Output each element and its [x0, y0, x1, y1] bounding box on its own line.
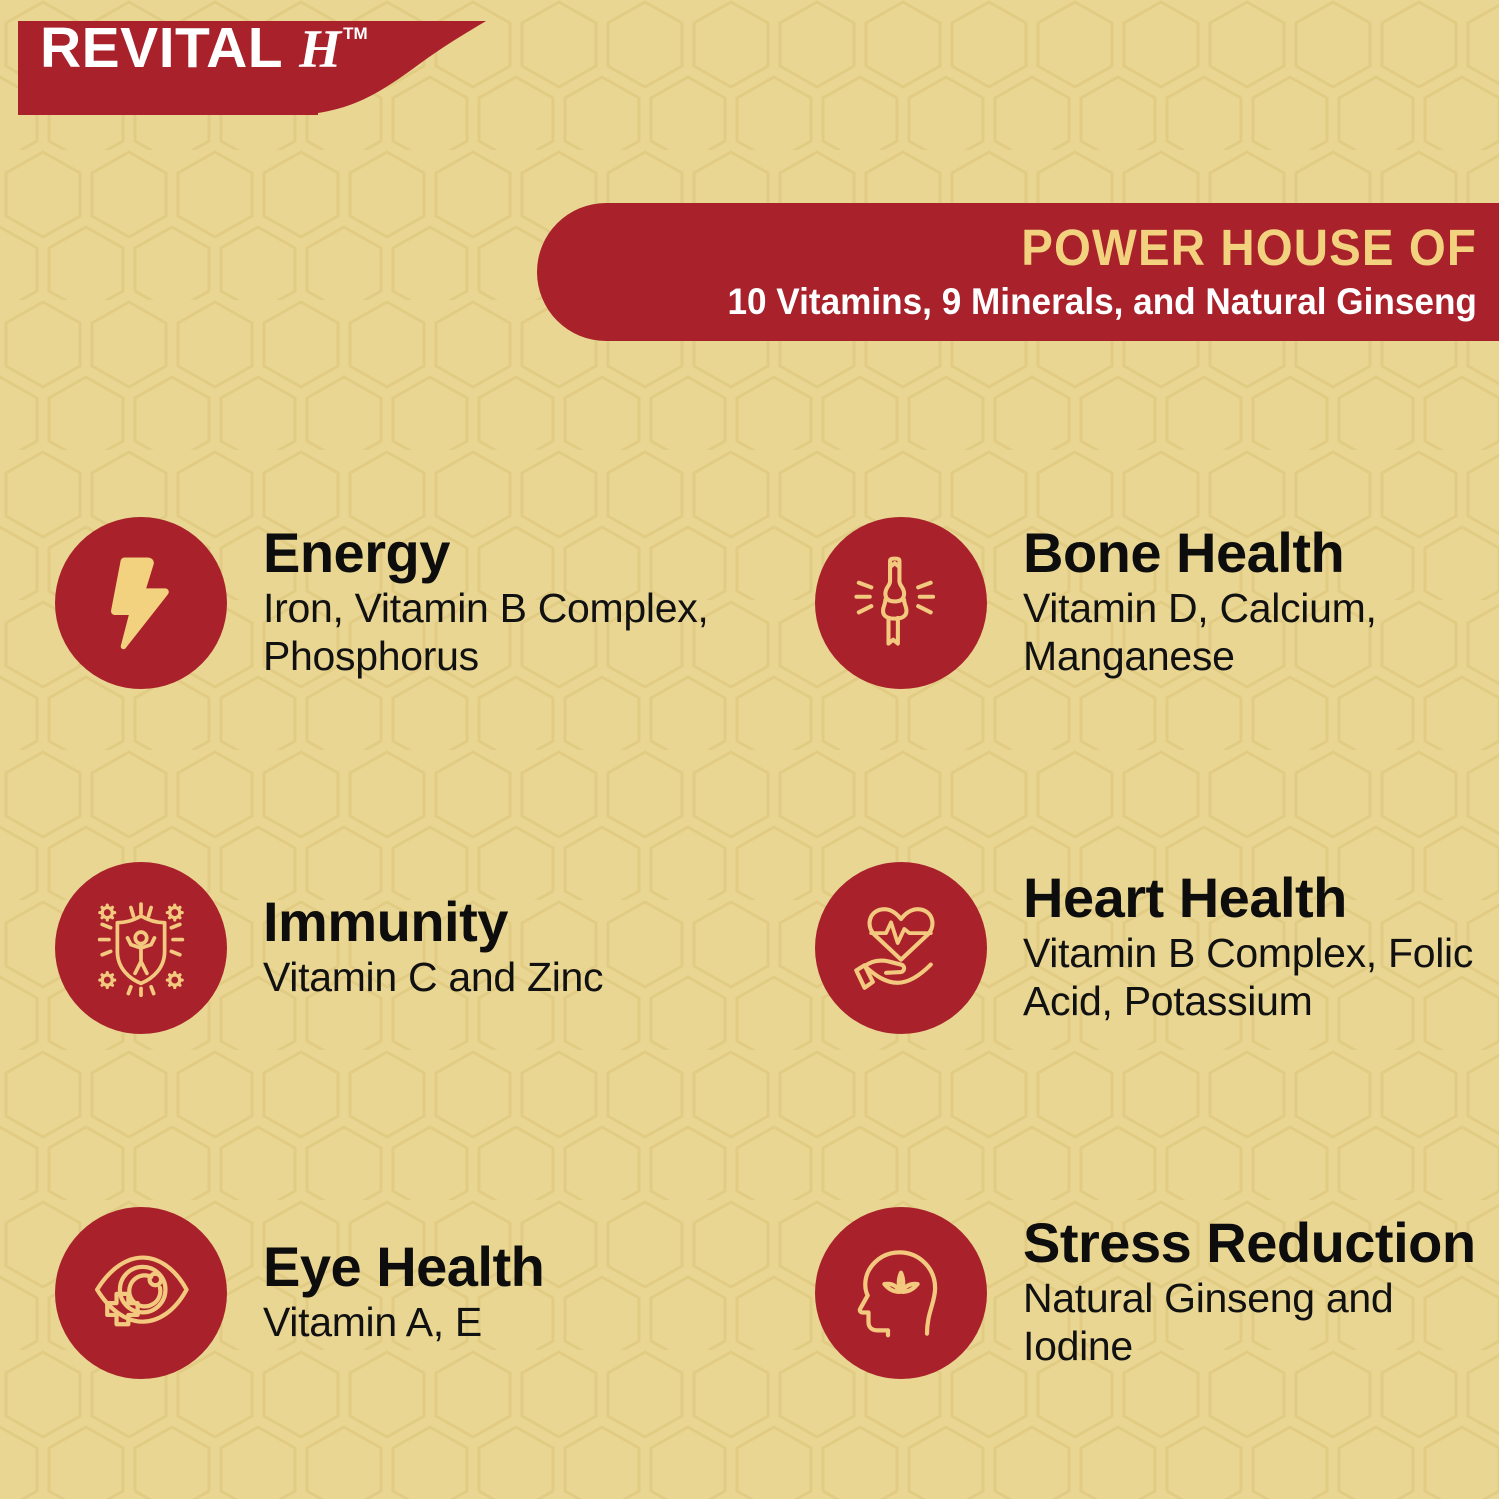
- stress-reduction-icon-badge: [815, 1207, 987, 1379]
- eye-health-icon-badge: [55, 1207, 227, 1379]
- head-leaf-icon: [849, 1241, 953, 1345]
- feature-grid: Energy Iron, Vitamin B Complex, Phosphor…: [0, 430, 1499, 1465]
- heart-health-icon-badge: [815, 862, 987, 1034]
- brand-mark-h: H: [299, 22, 341, 76]
- feature-title: Eye Health: [263, 1238, 544, 1296]
- bone-health-icon-badge: [815, 517, 987, 689]
- feature-item-bone-health: Bone Health Vitamin D, Calcium, Manganes…: [815, 517, 1499, 689]
- infographic-page: REVITAL H TM POWER HOUSE OF 10 Vitamins,…: [0, 0, 1499, 1499]
- header-banner: POWER HOUSE OF 10 Vitamins, 9 Minerals, …: [537, 203, 1499, 341]
- immunity-icon-badge: [55, 862, 227, 1034]
- feature-description: Iron, Vitamin B Complex, Phosphorus: [263, 585, 760, 681]
- feature-row: Eye Health Vitamin A, E: [0, 1120, 1499, 1465]
- feature-item-heart-health: Heart Health Vitamin B Complex, Folic Ac…: [815, 862, 1499, 1034]
- bone-joint-icon: [851, 553, 951, 653]
- feature-description: Vitamin C and Zinc: [263, 954, 603, 1002]
- header-title: POWER HOUSE OF: [1021, 221, 1477, 275]
- brand-name: REVITAL: [40, 20, 283, 77]
- feature-title: Immunity: [263, 893, 603, 951]
- feature-row: Energy Iron, Vitamin B Complex, Phosphor…: [0, 430, 1499, 775]
- feature-title: Bone Health: [1023, 524, 1499, 582]
- feature-item-stress-reduction: Stress Reduction Natural Ginseng and Iod…: [815, 1207, 1499, 1379]
- energy-icon-badge: [55, 517, 227, 689]
- feature-description: Vitamin B Complex, Folic Acid, Potassium: [1023, 930, 1499, 1026]
- trademark-symbol: TM: [343, 24, 368, 44]
- feature-row: Immunity Vitamin C and Zinc: [0, 775, 1499, 1120]
- eye-medical-icon: [87, 1239, 195, 1347]
- feature-title: Heart Health: [1023, 869, 1499, 927]
- heart-in-hand-icon: [848, 895, 954, 1001]
- feature-item-immunity: Immunity Vitamin C and Zinc: [55, 862, 603, 1034]
- feature-description: Vitamin D, Calcium, Manganese: [1023, 585, 1499, 681]
- feature-description: Vitamin A, E: [263, 1299, 544, 1347]
- brand-logo-text: REVITAL H TM: [40, 20, 368, 77]
- feature-item-eye-health: Eye Health Vitamin A, E: [55, 1207, 544, 1379]
- feature-title: Stress Reduction: [1023, 1214, 1499, 1272]
- feature-item-energy: Energy Iron, Vitamin B Complex, Phosphor…: [55, 517, 760, 689]
- feature-description: Natural Ginseng and Iodine: [1023, 1275, 1499, 1371]
- feature-title: Energy: [263, 524, 760, 582]
- lightning-bolt-icon: [89, 551, 193, 655]
- shield-person-icon: [87, 894, 195, 1002]
- header-subtitle: 10 Vitamins, 9 Minerals, and Natural Gin…: [728, 281, 1477, 324]
